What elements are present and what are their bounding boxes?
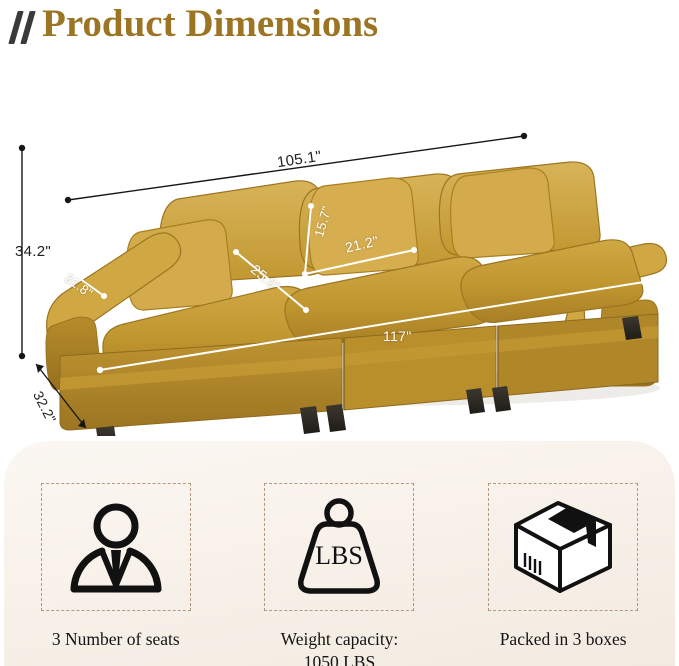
product-dimensions-infographic: Product Dimensions (0, 0, 679, 666)
feature-label-weight-line1: Weight capacity: (281, 628, 399, 651)
dim-label-overall-height: 34.2" (15, 243, 51, 260)
weight-icon-text: LBS (316, 541, 364, 570)
feature-label-seats: 3 Number of seats (52, 628, 180, 651)
feature-card-weight: LBS Weight capacity: 1050 LBS (243, 483, 435, 666)
weight-icon: LBS (287, 497, 391, 597)
throw-pillow-right (451, 168, 555, 258)
leg-front-middle-b (326, 404, 346, 432)
feature-label-seats-line1: 3 Number of seats (52, 628, 180, 651)
person-icon (64, 499, 168, 595)
feature-card-seats: 3 Number of seats (20, 483, 212, 651)
page-title: Product Dimensions (42, 2, 378, 46)
feature-icon-box-packaging (488, 483, 638, 611)
double-slash-icon (8, 8, 42, 48)
feature-panel: 3 Number of seats LBS Weight capacity: 1… (4, 441, 675, 666)
feature-icon-box-weight: LBS (264, 483, 414, 611)
page-header: Product Dimensions (8, 2, 378, 48)
feature-card-list: 3 Number of seats LBS Weight capacity: 1… (4, 441, 675, 666)
feature-label-boxes-line1: Packed in 3 boxes (500, 628, 627, 651)
sofa-illustration: 105.1" 34.2" 31.8" 15.7" 21.2" 25.9" 117… (0, 56, 679, 436)
box-icon (508, 499, 618, 595)
sofa-drawing (0, 56, 679, 436)
feature-label-boxes: Packed in 3 boxes (500, 628, 627, 651)
feature-icon-box-seats (41, 483, 191, 611)
feature-label-weight-line2: 1050 LBS (281, 651, 399, 666)
dim-label-seat-width: 117" (383, 328, 412, 344)
feature-label-weight: Weight capacity: 1050 LBS (281, 628, 399, 666)
feature-card-boxes: Packed in 3 boxes (467, 483, 659, 651)
